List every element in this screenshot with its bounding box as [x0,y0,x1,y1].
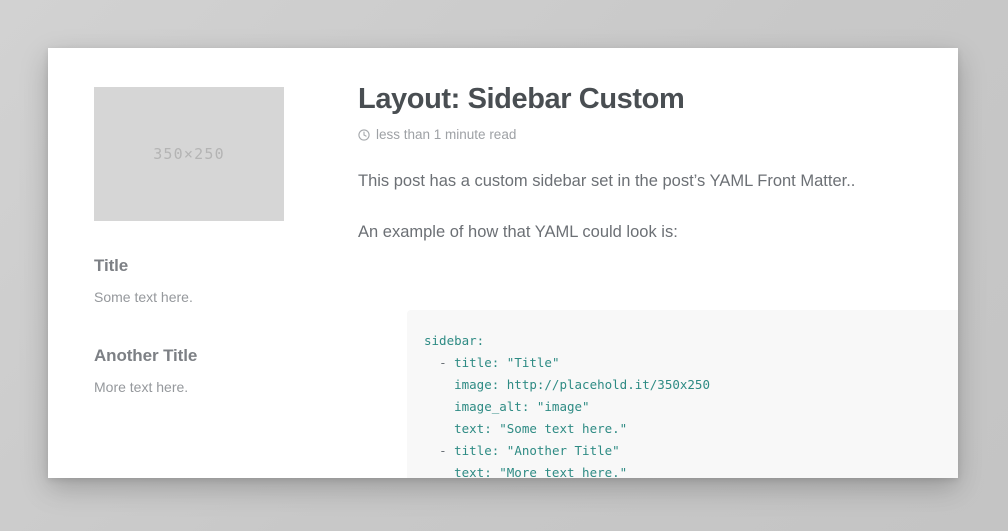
sidebar-block-text: More text here. [94,378,294,398]
post-paragraph: This post has a custom sidebar set in th… [358,169,958,194]
post-meta: less than 1 minute read [358,127,958,142]
clock-icon [358,129,370,141]
post-paragraph: An example of how that YAML could look i… [358,220,958,245]
sidebar-block-title: Title [94,256,294,276]
page-title: Layout: Sidebar Custom [358,83,958,116]
yaml-code: sidebar: - title: "Title" image: http://… [424,333,710,478]
code-block-content[interactable]: sidebar: - title: "Title" image: http://… [407,310,958,478]
sidebar-block: Another Title More text here. [94,346,294,398]
sidebar-block-text: Some text here. [94,288,294,308]
code-block: sidebar: - title: "Title" image: http://… [407,310,958,478]
sidebar-block-title: Another Title [94,346,294,366]
post-sidebar: 350×250 Title Some text here. Another Ti… [94,87,324,397]
post-card: 350×250 Title Some text here. Another Ti… [48,48,958,478]
post-card-inner: 350×250 Title Some text here. Another Ti… [48,48,958,478]
read-time-label: less than 1 minute read [376,127,516,142]
sidebar-block: Title Some text here. [94,256,294,308]
sidebar-image-placeholder: 350×250 [94,87,284,221]
post-content: Layout: Sidebar Custom less than 1 minut… [358,83,958,245]
image-placeholder-label: 350×250 [153,145,225,163]
